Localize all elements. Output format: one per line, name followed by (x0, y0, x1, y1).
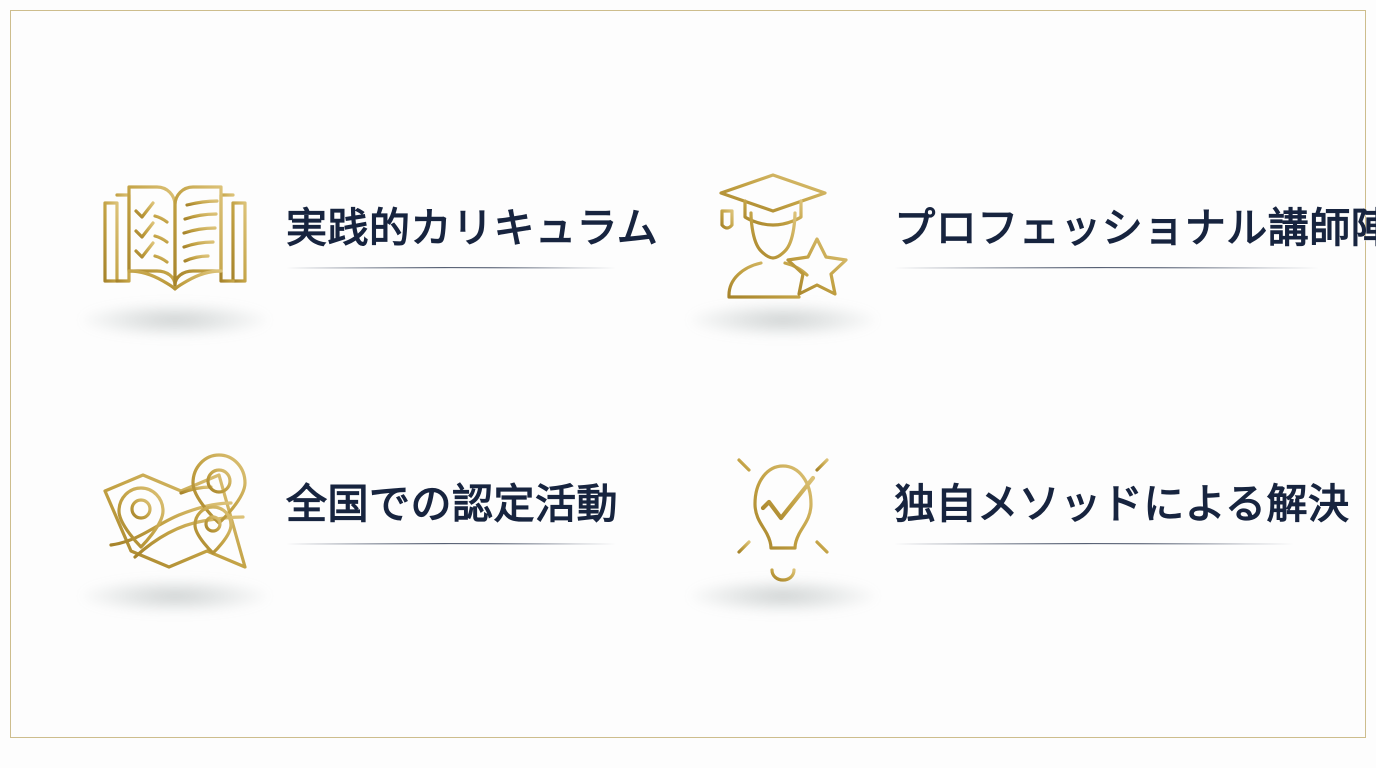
lightbulb-check-icon (713, 438, 853, 583)
feature-grid: 実践的カリキュラム (0, 0, 1376, 768)
feature-item-practical-curriculum[interactable]: 実践的カリキュラム (50, 96, 658, 372)
feature-label-container: プロフェッショナル講師陣 (894, 199, 1376, 269)
icon-ground-shadow (83, 579, 268, 613)
feature-item-original-method[interactable]: 独自メソッドによる解決 (658, 372, 1376, 648)
feature-label: プロフェッショナル講師陣 (894, 203, 1376, 253)
feature-icon-container (90, 425, 260, 595)
feature-label: 実践的カリキュラム (286, 203, 658, 253)
feature-icon-container (698, 149, 868, 319)
feature-label-container: 独自メソッドによる解決 (894, 475, 1349, 545)
feature-underline (894, 267, 1319, 269)
folded-map-pins-icon (95, 445, 255, 575)
feature-icon-container (698, 425, 868, 595)
feature-item-professional-instructors[interactable]: プロフェッショナル講師陣 (658, 96, 1376, 372)
feature-label-container: 実践的カリキュラム (286, 199, 658, 269)
icon-ground-shadow (691, 303, 876, 337)
feature-icon-container (90, 149, 260, 319)
feature-label: 独自メソッドによる解決 (894, 479, 1349, 529)
feature-underline (286, 543, 616, 545)
icon-ground-shadow (83, 303, 268, 337)
icon-ground-shadow (691, 579, 876, 613)
feature-underline (286, 267, 616, 269)
feature-label: 全国での認定活動 (286, 479, 618, 529)
feature-item-nationwide-certification[interactable]: 全国での認定活動 (50, 372, 658, 648)
graduate-star-icon (713, 167, 853, 302)
open-book-checklist-icon (95, 169, 255, 299)
feature-underline (894, 543, 1294, 545)
feature-label-container: 全国での認定活動 (286, 475, 618, 545)
